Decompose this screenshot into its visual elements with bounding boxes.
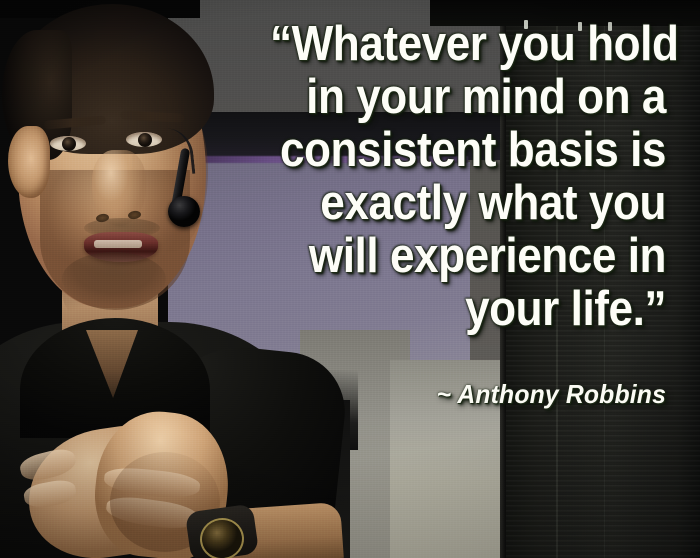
attribution-text: ~ Anthony Robbins xyxy=(318,379,666,409)
quote-line: in your mind on a xyxy=(270,71,666,124)
pupil-left xyxy=(62,137,76,151)
ear xyxy=(8,126,50,198)
quote-line: will experience in xyxy=(270,230,666,283)
headset-mic-capsule xyxy=(168,196,200,227)
quote-line: consistent basis is xyxy=(270,124,666,177)
quote-text-block: “Whatever you hold in your mind on a con… xyxy=(226,18,666,336)
quote-image: “Whatever you hold in your mind on a con… xyxy=(0,0,700,558)
chin-stubble xyxy=(62,252,166,306)
quote-line: exactly what you xyxy=(270,177,666,230)
teeth xyxy=(94,240,142,248)
quote-line: your life.” xyxy=(270,283,666,336)
quote-line: “Whatever you hold xyxy=(270,18,666,71)
attribution-block: ~ Anthony Robbins xyxy=(300,379,666,409)
